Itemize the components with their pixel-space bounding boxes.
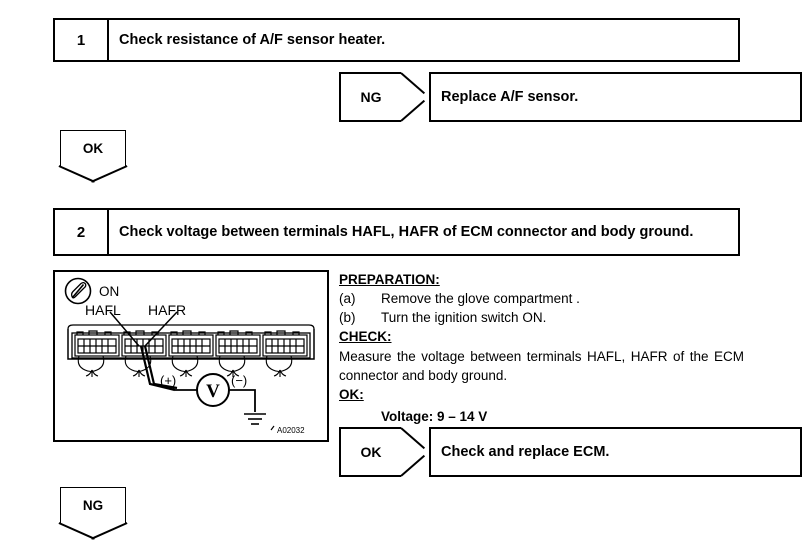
ok-branch-tag: OK <box>339 427 401 477</box>
ng-tag-point-right <box>91 522 127 539</box>
ng-branch-tag: NG <box>339 72 401 122</box>
ok-result-box: Check and replace ECM. <box>429 427 802 477</box>
preparation-heading: PREPARATION: <box>339 270 744 289</box>
voltmeter-label: V <box>206 381 220 402</box>
step-1-text: Check resistance of A/F sensor heater. <box>109 20 738 60</box>
preparation-item-a-mark: (a) <box>339 289 381 308</box>
ground-symbol <box>244 414 266 424</box>
ok-result-row: OK Check and replace ECM. <box>339 427 802 477</box>
preparation-item-a: (a) Remove the glove compartment . <box>339 289 744 308</box>
instruction-panel: PREPARATION: (a) Remove the glove compar… <box>339 270 744 426</box>
step-1-box: 1 Check resistance of A/F sensor heater. <box>53 18 740 62</box>
step-2-number: 2 <box>55 210 109 254</box>
ng-tag-point-top <box>400 72 425 94</box>
preparation-item-b: (b) Turn the ignition switch ON. <box>339 308 744 327</box>
figure-code: A02032 <box>277 426 305 435</box>
step-2-text: Check voltage between terminals HAFL, HA… <box>109 210 738 254</box>
ok-tag-point-left <box>59 165 95 182</box>
preparation-item-a-text: Remove the glove compartment . <box>381 289 580 308</box>
illustration-drawing: V ON HAFL HAFR (+) (−) A02032 <box>55 272 327 440</box>
negative-polarity-label: (−) <box>231 373 247 388</box>
ok-flow-tag: OK <box>60 130 126 182</box>
ok-tag-point-bottom <box>400 455 425 477</box>
hafr-label: HAFR <box>148 302 186 318</box>
ecm-connector-illustration: V ON HAFL HAFR (+) (−) A02032 <box>53 270 329 442</box>
check-text: Measure the voltage between terminals HA… <box>339 347 744 385</box>
ng-flow-tag-label: NG <box>60 487 126 523</box>
preparation-item-b-mark: (b) <box>339 308 381 327</box>
ng-result-row: NG Replace A/F sensor. <box>339 72 802 122</box>
ng-result-box: Replace A/F sensor. <box>429 72 802 122</box>
ignition-on-label: ON <box>99 284 119 299</box>
step-2-box: 2 Check voltage between terminals HAFL, … <box>53 208 740 256</box>
preparation-item-b-text: Turn the ignition switch ON. <box>381 308 546 327</box>
ng-flow-tag: NG <box>60 487 126 539</box>
ok-heading: OK: <box>339 385 744 404</box>
check-heading: CHECK: <box>339 327 744 346</box>
step-1-number: 1 <box>55 20 109 60</box>
ok-voltage-value: Voltage: 9 – 14 V <box>339 404 744 426</box>
hafl-label: HAFL <box>85 302 121 318</box>
positive-polarity-label: (+) <box>160 373 176 388</box>
ng-tag-point-bottom <box>400 100 425 122</box>
ok-tag-point-top <box>400 427 425 449</box>
ng-branch-tag-label: NG <box>361 89 382 105</box>
ng-tag-point-left <box>59 522 95 539</box>
negative-test-lead <box>229 390 255 412</box>
ok-tag-point-right <box>91 165 127 182</box>
ok-branch-tag-label: OK <box>361 444 382 460</box>
ok-flow-tag-label: OK <box>60 130 126 166</box>
